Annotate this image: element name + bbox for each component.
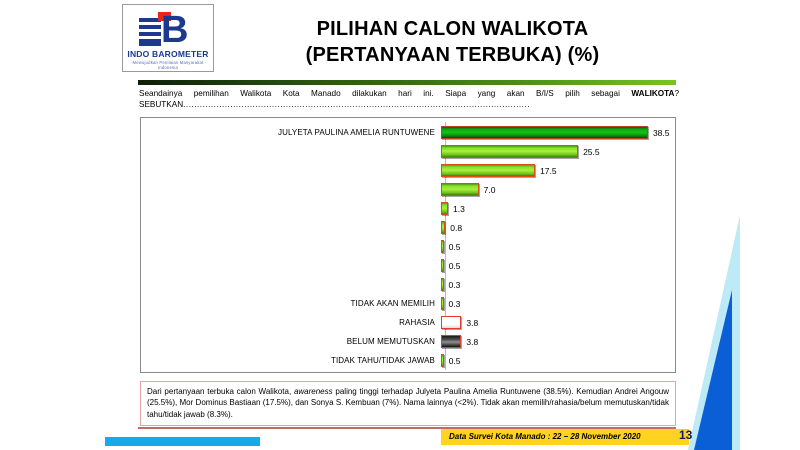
chart-bar-wrap: 0.5 bbox=[441, 351, 461, 370]
footer-source-banner: Data Survei Kota Manado : 22 – 28 Novemb… bbox=[441, 429, 689, 445]
chart-bar-wrap: 3.8 bbox=[441, 313, 478, 332]
chart-bar-wrap: 1.3 bbox=[441, 199, 465, 218]
note-text-a: Dari pertanyaan terbuka calon Walikota, bbox=[147, 387, 294, 396]
chart-bar-wrap: 0.5 bbox=[441, 256, 461, 275]
question-dots: ........................................… bbox=[183, 100, 530, 109]
logo-letter: B bbox=[161, 12, 187, 48]
chart-bar-wrap: 17.5 bbox=[441, 161, 557, 180]
logo-name: INDO BAROMETER bbox=[123, 49, 213, 59]
chart-bar-wrap: 0.5 bbox=[441, 237, 461, 256]
chart-bar-wrap: 7.0 bbox=[441, 180, 495, 199]
chart-bar bbox=[441, 335, 461, 348]
chart-row: TIDAK AKAN MEMILIH0.3 bbox=[141, 294, 677, 313]
chart-row: 25.5 bbox=[141, 142, 677, 161]
page-title: PILIHAN CALON WALIKOTA (PERTANYAAN TERBU… bbox=[230, 16, 675, 68]
chart-row-label: RAHASIA bbox=[141, 318, 441, 327]
chart-row: 0.8 bbox=[141, 218, 677, 237]
chart-bar-value: 7.0 bbox=[479, 185, 496, 195]
page-number: 13 bbox=[679, 428, 692, 442]
chart-row: JULYETA PAULINA AMELIA RUNTUWENE38.5 bbox=[141, 123, 677, 142]
chart-row: RAHASIA3.8 bbox=[141, 313, 677, 332]
chart-bar-value: 0.3 bbox=[444, 280, 461, 290]
chart-bar-value: 3.8 bbox=[461, 318, 478, 328]
chart-bar-wrap: 0.3 bbox=[441, 275, 460, 294]
page-title-line1: PILIHAN CALON WALIKOTA bbox=[230, 16, 675, 42]
chart-bar-value: 0.5 bbox=[444, 356, 461, 366]
brand-logo: B INDO BAROMETER Mewujudkan Penilaian Ma… bbox=[122, 4, 214, 72]
chart-bar bbox=[441, 164, 535, 177]
chart-bar-value: 38.5 bbox=[648, 128, 670, 138]
chart-bar-value: 0.8 bbox=[445, 223, 462, 233]
logo-stripes-icon bbox=[139, 18, 161, 46]
chart-bar bbox=[441, 126, 648, 139]
slide-canvas: B INDO BAROMETER Mewujudkan Penilaian Ma… bbox=[0, 0, 800, 450]
chart-row-label: TIDAK AKAN MEMILIH bbox=[141, 299, 441, 308]
chart-bar-wrap: 0.3 bbox=[441, 294, 460, 313]
chart-row: 1.3 bbox=[141, 199, 677, 218]
chart-bar bbox=[441, 183, 479, 196]
note-text-emphasis: awareness bbox=[294, 387, 333, 396]
chart-frame: JULYETA PAULINA AMELIA RUNTUWENE38.525.5… bbox=[140, 117, 676, 373]
chart-bar-value: 25.5 bbox=[578, 147, 600, 157]
chart-row: 0.3 bbox=[141, 275, 677, 294]
chart-bar-wrap: 0.8 bbox=[441, 218, 462, 237]
footer-accent-bar bbox=[105, 437, 260, 446]
chart-bar bbox=[441, 145, 578, 158]
chart-row: 7.0 bbox=[141, 180, 677, 199]
logo-tagline: Mewujudkan Penilaian Masyarakat Indonesi… bbox=[123, 60, 213, 70]
chart-bar bbox=[441, 316, 461, 329]
page-title-line2: (PERTANYAAN TERBUKA) (%) bbox=[230, 42, 675, 68]
logo-mark-icon: B bbox=[139, 12, 199, 48]
chart-bar-value: 0.5 bbox=[444, 261, 461, 271]
chart-row-label: TIDAK TAHU/TIDAK JAWAB bbox=[141, 356, 441, 365]
question-emphasis: WALIKOTA bbox=[631, 89, 674, 98]
decorative-wedge-blue bbox=[694, 290, 732, 450]
chart-bar-value: 17.5 bbox=[535, 166, 557, 176]
chart-bar-wrap: 3.8 bbox=[441, 332, 478, 351]
question-text-before: Seandainya pemilihan Walikota Kota Manad… bbox=[139, 89, 631, 98]
question-text: Seandainya pemilihan Walikota Kota Manad… bbox=[139, 88, 679, 110]
chart-bar-wrap: 25.5 bbox=[441, 142, 600, 161]
chart-bar-value: 0.3 bbox=[444, 299, 461, 309]
chart-bar-value: 3.8 bbox=[461, 337, 478, 347]
chart-row-label: JULYETA PAULINA AMELIA RUNTUWENE bbox=[141, 128, 441, 137]
chart-row: BELUM MEMUTUSKAN3.8 bbox=[141, 332, 677, 351]
chart-row: 17.5 bbox=[141, 161, 677, 180]
chart-rows: JULYETA PAULINA AMELIA RUNTUWENE38.525.5… bbox=[141, 123, 677, 370]
chart-bar-value: 0.5 bbox=[444, 242, 461, 252]
footer-source-text: Data Survei Kota Manado : 22 – 28 Novemb… bbox=[441, 429, 689, 441]
chart-row: 0.5 bbox=[141, 237, 677, 256]
chart-bar-wrap: 38.5 bbox=[441, 123, 669, 142]
summary-note: Dari pertanyaan terbuka calon Walikota, … bbox=[140, 381, 676, 426]
chart-row: 0.5 bbox=[141, 256, 677, 275]
header-divider bbox=[138, 80, 676, 85]
chart-row: TIDAK TAHU/TIDAK JAWAB0.5 bbox=[141, 351, 677, 370]
chart-bar-value: 1.3 bbox=[448, 204, 465, 214]
chart-bar bbox=[441, 202, 448, 215]
chart-row-label: BELUM MEMUTUSKAN bbox=[141, 337, 441, 346]
